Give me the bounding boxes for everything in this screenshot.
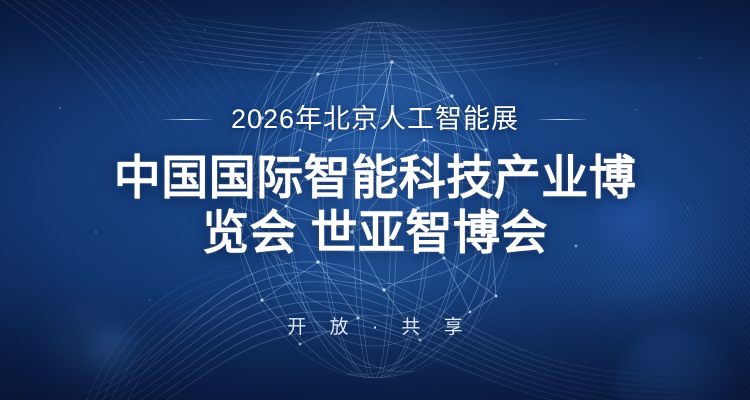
eyebrow-text: 2026年北京人工智能展 xyxy=(231,106,519,133)
banner-content: 2026年北京人工智能展 中国国际智能科技产业博 览会 世亚智博会 开 放 · … xyxy=(0,0,750,400)
event-banner: 2026年北京人工智能展 中国国际智能科技产业博 览会 世亚智博会 开 放 · … xyxy=(0,0,750,400)
rule-right-icon xyxy=(538,119,586,120)
title-line-2: 览会 世亚智博会 xyxy=(114,205,637,260)
title-line-1: 中国国际智能科技产业博 xyxy=(114,151,637,204)
rule-left-icon xyxy=(164,119,212,120)
banner-subtitle: 开 放 · 共 享 xyxy=(278,312,471,339)
eyebrow-row: 2026年北京人工智能展 xyxy=(164,100,586,138)
page-title: 中国国际智能科技产业博 览会 世亚智博会 xyxy=(114,150,637,261)
